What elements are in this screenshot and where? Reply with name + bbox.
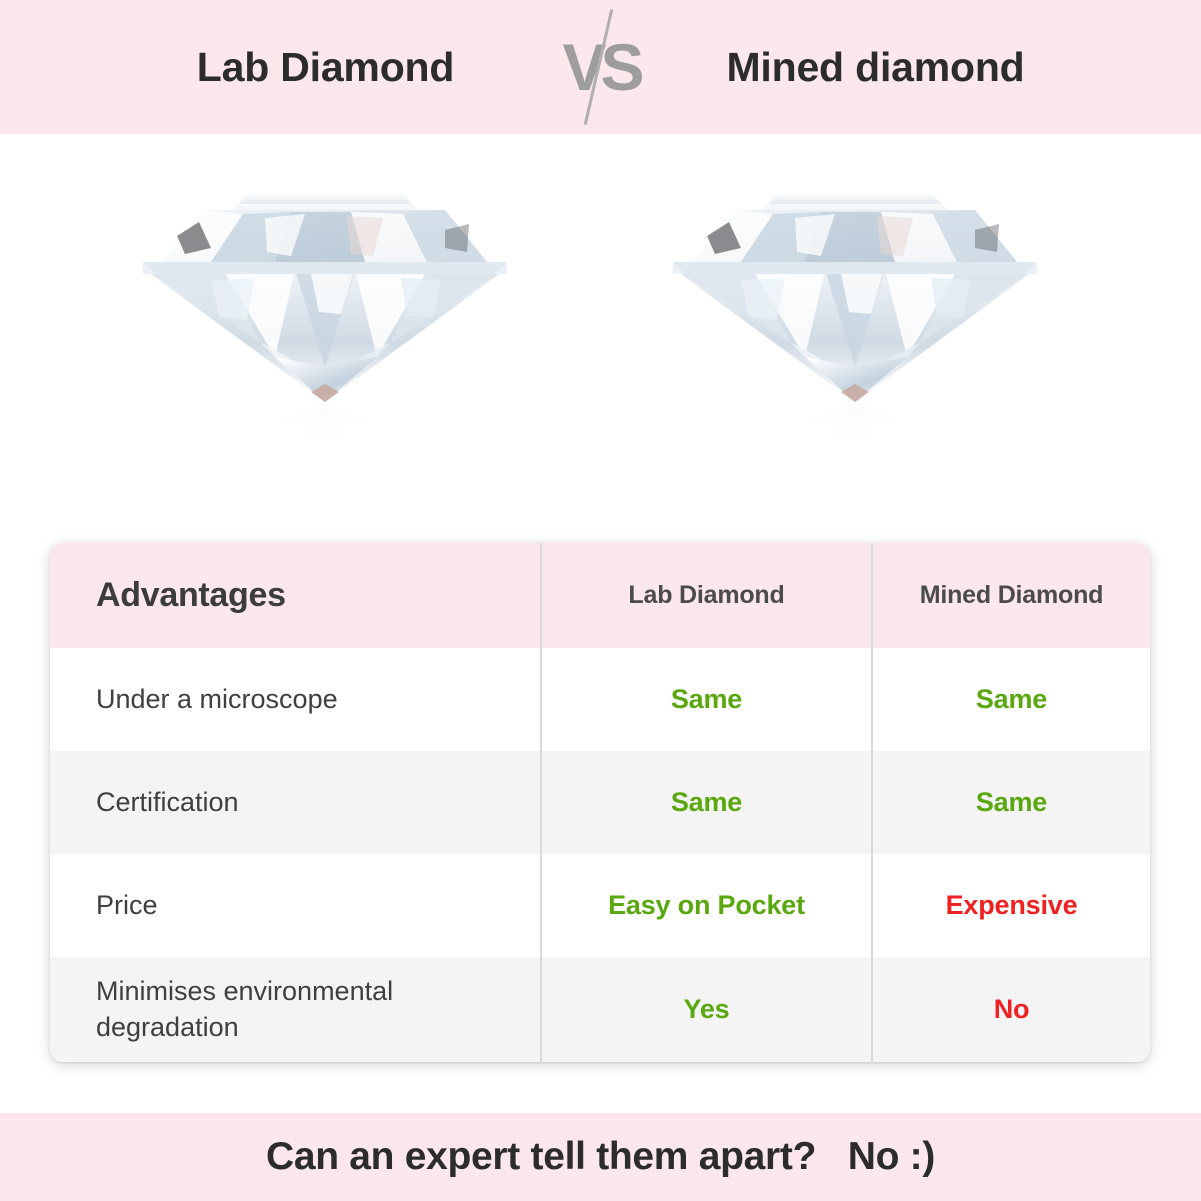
comparison-card: Advantages Lab Diamond Mined Diamond Und… <box>50 543 1150 1062</box>
header-row: Advantages Lab Diamond Mined Diamond <box>50 543 1150 648</box>
row-feature-label: Minimises environmental degradation <box>50 957 541 1062</box>
row-value-lab: Yes <box>541 957 872 1062</box>
top-banner: Lab Diamond VS Mined diamond <box>0 0 1201 134</box>
row-value-mined: Same <box>872 648 1150 751</box>
table-row: Certification Same Same <box>50 751 1150 854</box>
footer-question: Can an expert tell them apart? No :) <box>266 1135 935 1179</box>
row-value-lab: Same <box>541 751 872 854</box>
comparison-table: Advantages Lab Diamond Mined Diamond Und… <box>50 543 1150 1062</box>
lab-diamond-image <box>115 152 535 452</box>
mined-diamond-title: Mined diamond <box>661 44 1091 91</box>
column-header-lab-diamond: Lab Diamond <box>541 543 872 648</box>
lab-diamond-title: Lab Diamond <box>111 44 541 91</box>
row-value-lab: Same <box>541 648 872 751</box>
table-header: Advantages Lab Diamond Mined Diamond <box>50 543 1150 648</box>
table-body: Under a microscope Same Same Certificati… <box>50 648 1150 1062</box>
vs-label: VS <box>562 34 638 100</box>
row-value-lab: Easy on Pocket <box>541 854 872 957</box>
mined-diamond-image <box>645 152 1065 452</box>
diamond-illustration <box>645 152 1065 452</box>
versus-mark: VS <box>541 0 661 134</box>
row-feature-label: Price <box>50 854 541 957</box>
row-value-mined: Same <box>872 751 1150 854</box>
diamond-images-section <box>0 134 1201 529</box>
footer-banner: Can an expert tell them apart? No :) <box>0 1113 1201 1201</box>
row-value-mined: Expensive <box>872 854 1150 957</box>
column-header-mined-diamond: Mined Diamond <box>872 543 1150 648</box>
table-row: Minimises environmental degradation Yes … <box>50 957 1150 1062</box>
row-value-mined: No <box>872 957 1150 1062</box>
row-feature-label: Certification <box>50 751 541 854</box>
infographic-page: Lab Diamond VS Mined diamond <box>0 0 1201 1201</box>
row-feature-label: Under a microscope <box>50 648 541 751</box>
column-header-advantages: Advantages <box>50 543 541 648</box>
table-row: Under a microscope Same Same <box>50 648 1150 751</box>
diamond-illustration <box>115 152 535 452</box>
table-row: Price Easy on Pocket Expensive <box>50 854 1150 957</box>
